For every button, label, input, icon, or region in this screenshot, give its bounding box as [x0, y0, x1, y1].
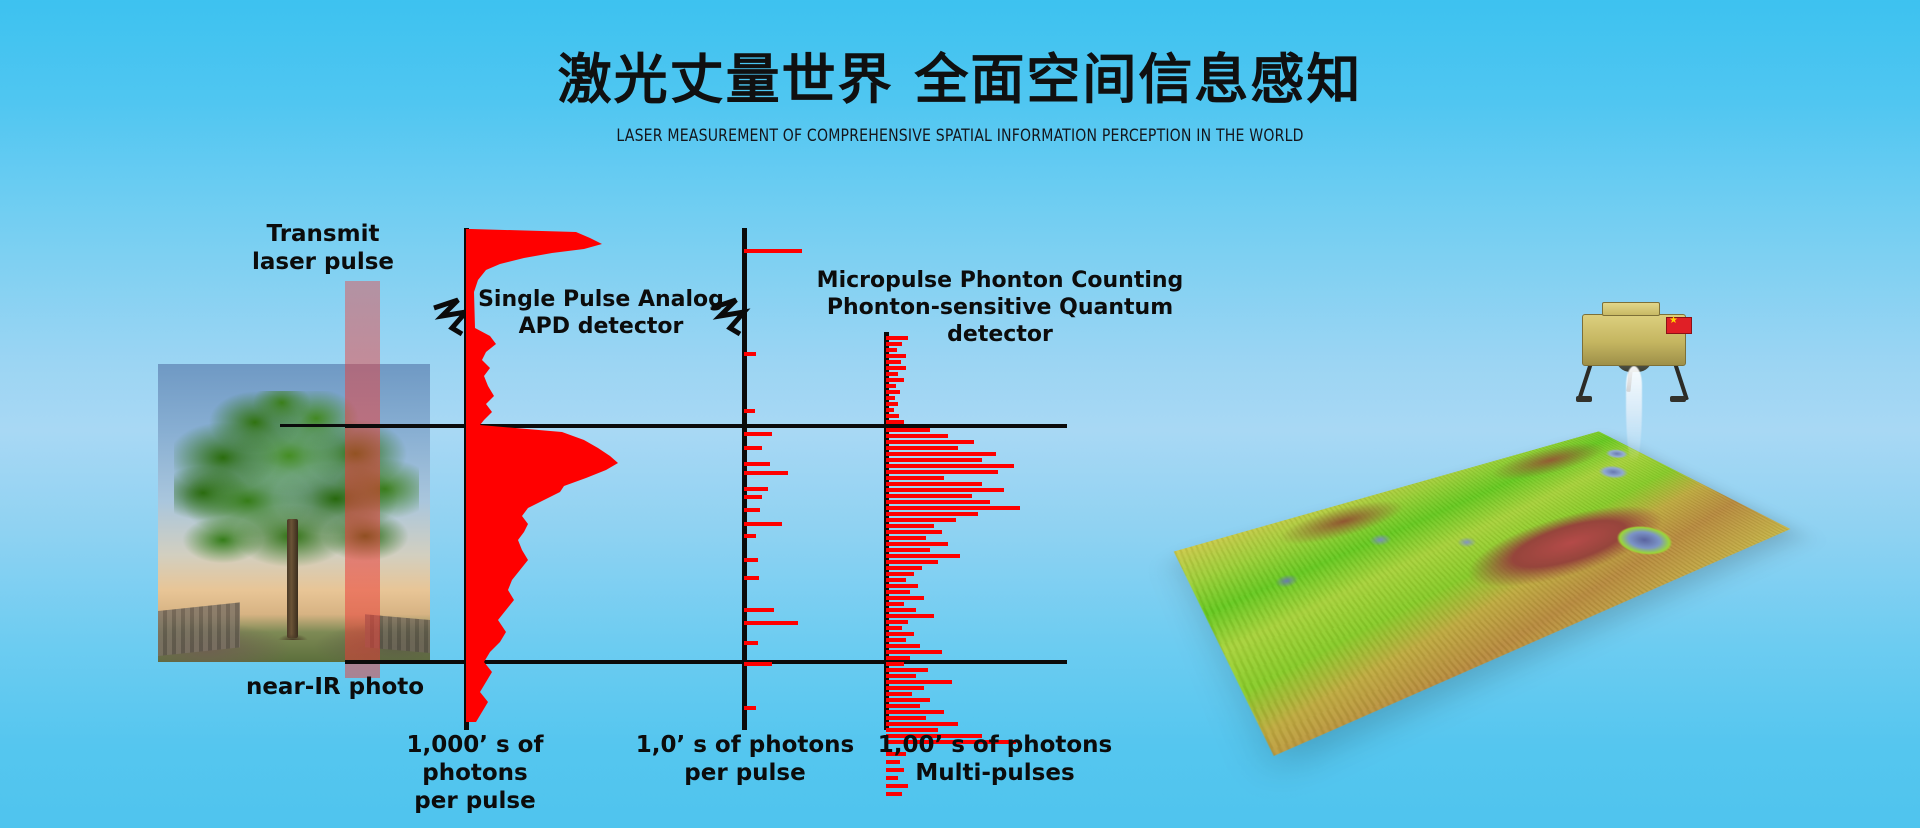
near-ir-photo [158, 364, 430, 662]
waveform-bar [886, 710, 944, 714]
waveform-bar [886, 360, 901, 364]
waveform-bar [886, 482, 982, 486]
panel3-title: Micropulse Phonton Counting Phonton-sens… [790, 268, 1210, 348]
engine-plume [1626, 366, 1642, 462]
stone-wall-left [158, 603, 240, 656]
waveform-bar [886, 602, 904, 606]
waveform-bar [886, 446, 958, 450]
waveform-bar [886, 440, 974, 444]
waveform-bar [886, 674, 916, 678]
panel1-title-line1: Single Pulse Analog [456, 287, 746, 314]
colorized-dem-terrain [1174, 431, 1791, 756]
waveform-bar [744, 534, 756, 538]
waveform-bar [886, 614, 934, 618]
waveform-bar [886, 620, 908, 624]
panel2-footer-line2: per pulse [630, 759, 860, 787]
panel1-waveform [466, 0, 686, 828]
tree-trunk [287, 519, 298, 638]
panel1-title: Single Pulse Analog APD detector [456, 287, 746, 341]
waveform-bar [744, 446, 762, 450]
waveform-bar [886, 632, 914, 636]
waveform-bar [744, 608, 774, 612]
waveform-bar [886, 408, 894, 412]
lander-footpad-left [1576, 396, 1592, 402]
panel1-footer-line2: per pulse [355, 787, 595, 815]
waveform-bar [886, 584, 918, 588]
waveform-bar [886, 414, 899, 418]
waveform-bar [886, 680, 952, 684]
waveform-bar [886, 366, 906, 370]
waveform-bar [886, 662, 904, 666]
waveform-bar [886, 384, 896, 388]
waveform-bar [886, 354, 906, 358]
waveform-bar [744, 508, 760, 512]
waveform-bar [744, 462, 770, 466]
waveform-bar [886, 608, 916, 612]
waveform-bar [886, 548, 930, 552]
waveform-bar [744, 352, 756, 356]
panel3-waveform [886, 0, 1116, 828]
waveform-bar [744, 495, 762, 499]
waveform-bar [744, 471, 788, 475]
waveform-bar [886, 566, 922, 570]
lander-upper-deck [1602, 302, 1660, 316]
panel3-footer-line1: 1,00’ s of photons [870, 731, 1120, 759]
transmit-label-line2: laser pulse [218, 248, 428, 276]
lander-footpad-right [1670, 396, 1686, 402]
waveform-bar [886, 402, 898, 406]
waveform-bar [886, 704, 920, 708]
waveform-bar [886, 554, 960, 558]
waveform-bar [886, 668, 928, 672]
waveform-bar [886, 464, 1014, 468]
waveform-bar [744, 522, 782, 526]
waveform-bar [744, 706, 756, 710]
waveform-bar [886, 792, 902, 796]
waveform-bar [886, 716, 926, 720]
waveform-bar [886, 500, 990, 504]
waveform-bar [886, 692, 912, 696]
waveform-bar [744, 558, 758, 562]
waveform-bar [886, 434, 948, 438]
waveform-bar [886, 524, 934, 528]
photo-caption: near-IR photo [200, 673, 470, 701]
waveform-bar [886, 378, 904, 382]
waveform-bar [886, 578, 906, 582]
panel3-title-line1: Micropulse Phonton Counting [790, 268, 1210, 295]
panel3-title-line2: Phonton-sensitive Quantum detector [790, 295, 1210, 349]
waveform-bar [744, 662, 772, 666]
waveform-bar [886, 518, 956, 522]
waveform-bar [886, 530, 942, 534]
waveform-bar [886, 458, 982, 462]
waveform-bar [744, 249, 802, 253]
waveform-bar [886, 488, 1004, 492]
waveform-bar [744, 409, 755, 413]
panel3-footer-line2: Multi-pulses [870, 759, 1120, 787]
panel2-footer: 1,0’ s of photons per pulse [630, 731, 860, 787]
waveform-bar [744, 576, 759, 580]
waveform-bar [886, 506, 1020, 510]
waveform-bar [886, 476, 944, 480]
waveform-bar [886, 560, 938, 564]
waveform-bar [886, 512, 978, 516]
waveform-bar [744, 621, 798, 625]
transmit-label: Transmit laser pulse [218, 220, 428, 276]
lunar-lander [1568, 300, 1698, 410]
waveform-bar [744, 641, 758, 645]
panel1-title-line2: APD detector [456, 314, 746, 341]
lunar-terrain-scene [1180, 300, 1800, 740]
laser-beam-column [345, 281, 380, 678]
waveform-bar [744, 487, 768, 491]
tree-photograph [158, 364, 430, 662]
waveform-bar [886, 494, 972, 498]
waveform-bar [886, 686, 924, 690]
waveform-bar [744, 432, 772, 436]
panel1-area-path [466, 0, 686, 828]
diagram-stage: Transmit laser pulse near-IR photo Singl… [0, 0, 1920, 828]
waveform-bar [886, 452, 996, 456]
waveform-bar [886, 572, 914, 576]
waveform-bar [886, 656, 910, 660]
panel1-footer: 1,000’ s of photons per pulse [355, 731, 595, 815]
waveform-bar [886, 650, 942, 654]
waveform-bar [886, 638, 906, 642]
waveform-bar [886, 390, 900, 394]
waveform-bar [886, 596, 924, 600]
waveform-bar [886, 722, 958, 726]
panel2-footer-line1: 1,0’ s of photons [630, 731, 860, 759]
waveform-bar [886, 470, 998, 474]
waveform-bar [886, 428, 930, 432]
transmit-label-line1: Transmit [218, 220, 428, 248]
waveform-bar [886, 396, 895, 400]
waveform-bar [886, 590, 910, 594]
panel3-footer: 1,00’ s of photons Multi-pulses [870, 731, 1120, 787]
waveform-bar [886, 542, 948, 546]
waveform-bar [886, 372, 898, 376]
flag-icon [1666, 317, 1692, 334]
panel1-footer-line1: 1,000’ s of photons [355, 731, 595, 787]
waveform-bar [886, 420, 904, 424]
waveform-bar [886, 644, 920, 648]
waveform-bar [886, 698, 930, 702]
waveform-bar [886, 536, 926, 540]
waveform-bar [886, 626, 902, 630]
photo-tie-line [280, 424, 350, 427]
waveform-bar [886, 348, 897, 352]
